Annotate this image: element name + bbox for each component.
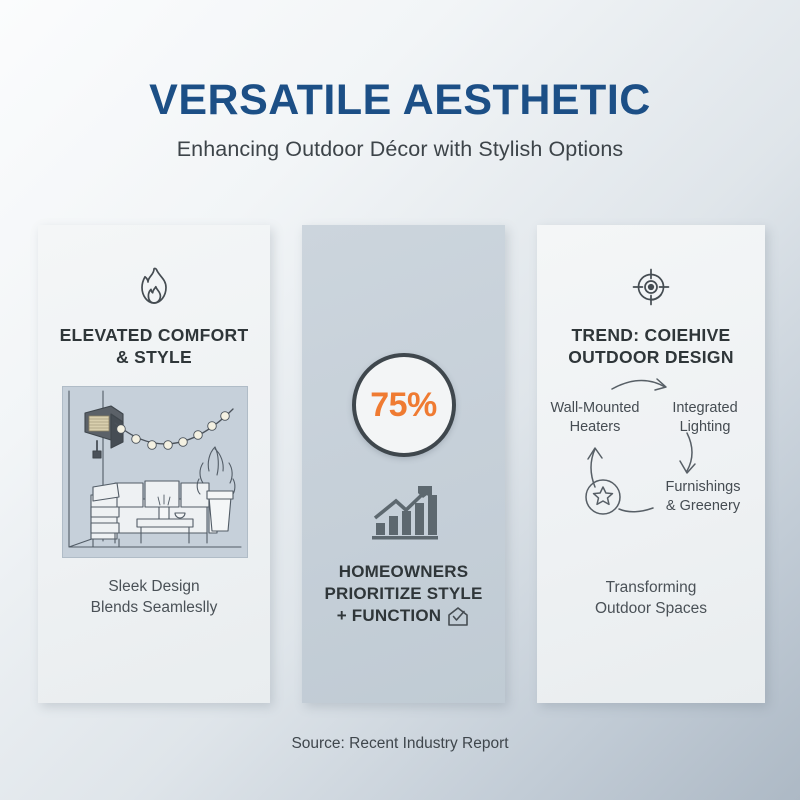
card-trend: TREND: COIEHIVE OUTDOOR DESIGN	[537, 225, 765, 703]
star-circle-icon	[594, 487, 613, 504]
cycle-node-lighting-line1: Integrated	[672, 400, 737, 416]
cycle-node-heaters-line2: Heaters	[570, 419, 621, 435]
page-subtitle: Enhancing Outdoor Décor with Stylish Opt…	[0, 137, 800, 162]
card-3-heading: TREND: COIEHIVE OUTDOOR DESIGN	[537, 325, 765, 369]
card-3-caption-line1: Transforming	[606, 579, 697, 596]
card-statistic: 75% HOMEOWNERS PRIORITIZE STYLE + FUNCTI…	[302, 225, 505, 703]
cycle-node-heaters: Wall-Mounted Heaters	[543, 399, 647, 436]
card-1-heading-line2: & STYLE	[116, 347, 192, 367]
source-note: Source: Recent Industry Report	[0, 735, 800, 753]
card-1-heading-line1: ELEVATED COMFORT	[60, 325, 249, 345]
cycle-node-furnishings: Furnishings & Greenery	[649, 478, 757, 515]
card-elevated-comfort: ELEVATED COMFORT & STYLE	[38, 225, 270, 703]
stat-circle: 75%	[352, 353, 456, 457]
card-1-heading: ELEVATED COMFORT & STYLE	[38, 325, 270, 369]
patio-scene-illustration	[62, 386, 248, 558]
target-icon	[537, 267, 765, 307]
flame-icon	[38, 267, 270, 307]
card-3-heading-line1: TREND: COIEHIVE	[571, 325, 730, 345]
card-1-caption-line1: Sleek Design	[108, 578, 199, 595]
cycle-node-lighting-line2: Lighting	[680, 419, 731, 435]
card-2-caption-line2: PRIORITIZE STYLE	[324, 584, 482, 603]
growth-chart-icon	[368, 483, 440, 541]
card-1-caption: Sleek Design Blends Seamleslly	[38, 577, 270, 619]
cards-row: ELEVATED COMFORT & STYLE	[38, 225, 765, 703]
card-2-caption: HOMEOWNERS PRIORITIZE STYLE + FUNCTION	[302, 561, 505, 627]
page-title: VERSATILE AESTHETIC	[0, 78, 800, 123]
cycle-node-furnishings-line2: & Greenery	[666, 498, 740, 514]
card-3-caption-line2: Outdoor Spaces	[595, 600, 707, 617]
card-1-caption-line2: Blends Seamleslly	[91, 599, 218, 616]
cycle-node-lighting: Integrated Lighting	[655, 399, 755, 436]
infographic-header: VERSATILE AESTHETIC Enhancing Outdoor Dé…	[0, 0, 800, 162]
card-3-heading-line2: OUTDOOR DESIGN	[568, 347, 734, 367]
house-check-icon	[446, 605, 470, 627]
cycle-node-heaters-line1: Wall-Mounted	[551, 400, 640, 416]
card-3-caption: Transforming Outdoor Spaces	[537, 578, 765, 620]
cycle-node-furnishings-line1: Furnishings	[666, 479, 741, 495]
stat-value: 75%	[370, 386, 437, 425]
card-2-caption-line3: + FUNCTION	[337, 605, 441, 627]
card-2-caption-line1: HOMEOWNERS	[339, 562, 469, 581]
cycle-diagram: Wall-Mounted Heaters Integrated Lighting…	[537, 375, 765, 525]
